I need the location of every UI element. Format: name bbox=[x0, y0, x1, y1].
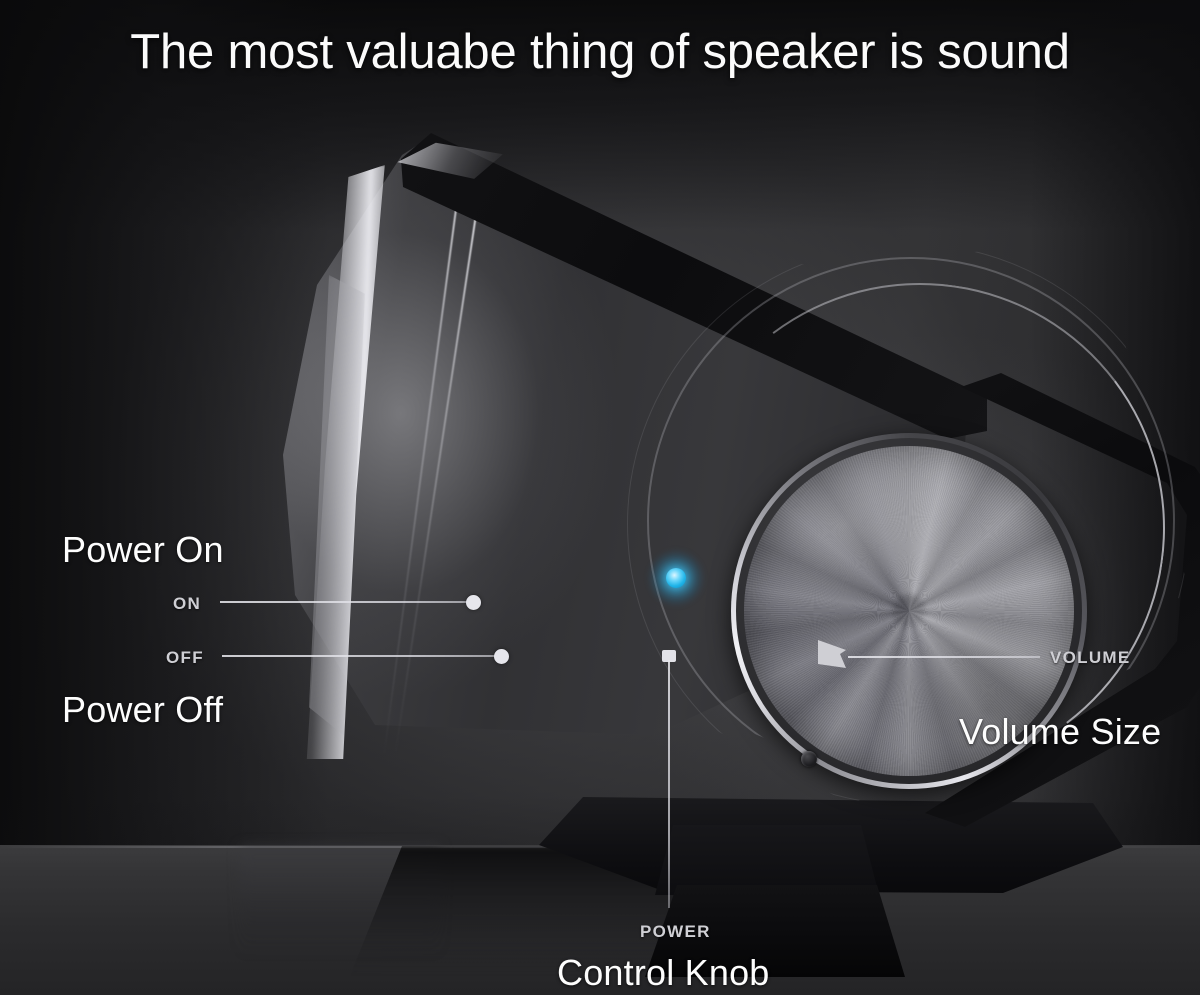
callout-label-power-off: Power Off bbox=[62, 689, 223, 731]
callout-tag-on: ON bbox=[173, 594, 201, 614]
callout-tag-off: OFF bbox=[166, 648, 204, 668]
leader-dot-power-on bbox=[466, 595, 481, 610]
leader-arrow-volume bbox=[816, 630, 860, 670]
leader-line-power-on bbox=[220, 601, 474, 603]
callout-tag-volume: VOLUME bbox=[1050, 648, 1131, 668]
power-led-icon bbox=[666, 568, 686, 588]
callout-label-volume-size: Volume Size bbox=[959, 711, 1161, 753]
leader-line-volume bbox=[848, 656, 1040, 658]
leader-line-power-off bbox=[222, 655, 502, 657]
knob-screw-hole bbox=[801, 751, 817, 767]
leader-line-power bbox=[668, 660, 670, 908]
speaker-stand-neck bbox=[655, 825, 879, 895]
product-infographic: The most valuabe thing of speaker is sou… bbox=[0, 0, 1200, 995]
callout-label-power-on: Power On bbox=[62, 529, 224, 571]
leader-dot-power-off bbox=[494, 649, 509, 664]
callout-tag-power: POWER bbox=[640, 922, 711, 942]
page-title: The most valuabe thing of speaker is sou… bbox=[0, 24, 1200, 80]
speaker-illustration bbox=[255, 125, 985, 865]
callout-label-control-knob: Control Knob bbox=[557, 952, 770, 994]
knob-center-point bbox=[892, 594, 926, 628]
